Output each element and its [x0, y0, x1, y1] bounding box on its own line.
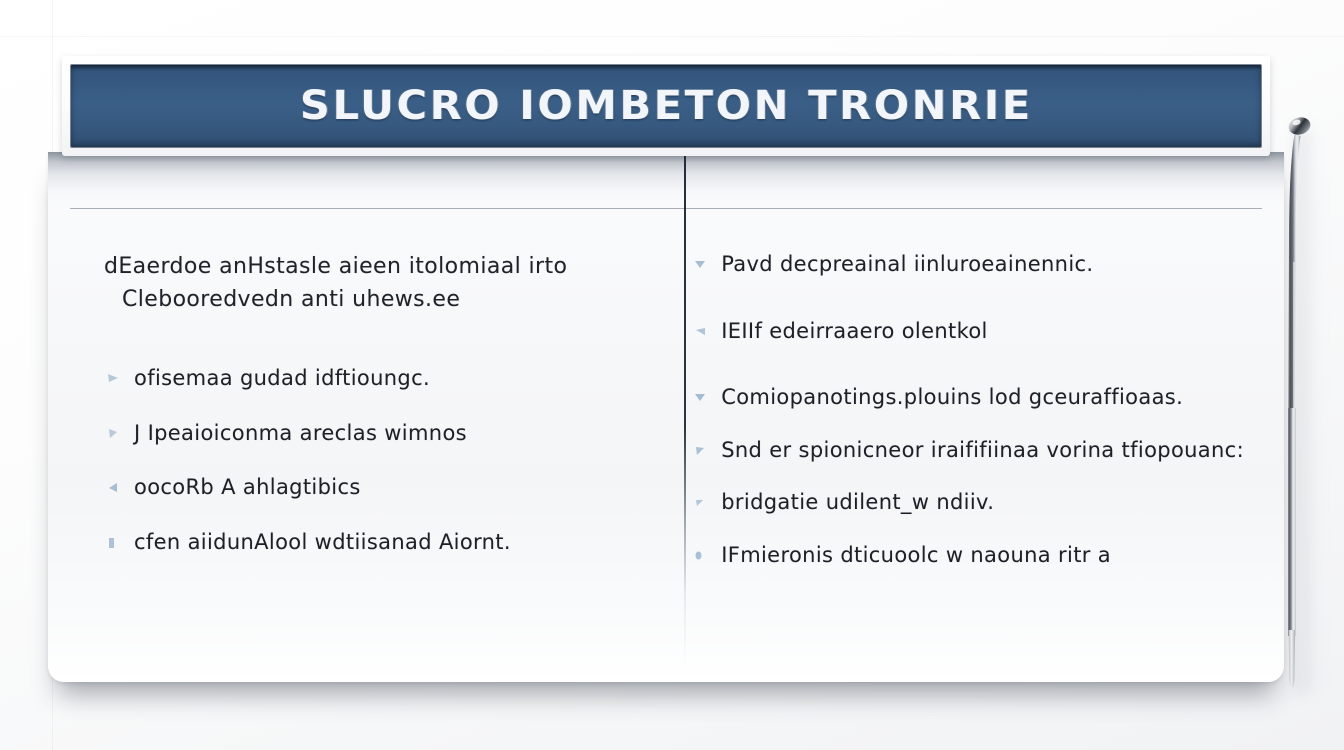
header-cast-shadow: [48, 152, 1284, 206]
left-column: dEaerdoe anHstasle aieen itolomiaal irto…: [48, 210, 633, 682]
square-icon: [106, 537, 122, 551]
metal-pointer-stylus[interactable]: [1282, 112, 1312, 700]
content-top-rule: [70, 208, 1262, 209]
list-item-label: ofisemaa gudad idftioungc.: [134, 364, 430, 393]
list-item[interactable]: bridgatie udilent_w ndiiv.: [691, 488, 1244, 517]
left-lead-line-2: Clebooredvedn anti uhews.ee: [104, 283, 599, 316]
triangle-left-icon: [693, 326, 709, 340]
wall-seam-horizontal: [0, 36, 1344, 37]
list-item[interactable]: J Ipeaioiconma areclas wimnos: [104, 419, 599, 448]
triangle-down-icon: [693, 259, 709, 273]
list-item[interactable]: Comiopanotings.plouins lod gceuraffioaas…: [691, 383, 1244, 412]
list-item-label: Pavd decpreainal iinluroeainennic.: [721, 250, 1093, 279]
right-column: Pavd decpreainal iinluroeainennic. IEIIf…: [633, 210, 1284, 682]
triangle-left-icon: [106, 482, 122, 496]
slide-stage: dEaerdoe anHstasle aieen itolomiaal irto…: [0, 0, 1344, 750]
triangle-right-icon: [693, 497, 709, 511]
page-title: SLUCRO IOMBETON TRONRIE: [300, 83, 1033, 129]
list-item[interactable]: IEIIf edeirraaero olentkol: [691, 317, 1244, 346]
list-item[interactable]: IFmieronis dticuoolc w naouna ritr a: [691, 541, 1244, 570]
circle-icon: [693, 550, 709, 564]
list-item[interactable]: oocoRb A ahlagtibics: [104, 473, 599, 502]
list-item[interactable]: cfen aiidunAlool wdtiisanad Aiornt.: [104, 528, 599, 557]
list-item-label: cfen aiidunAlool wdtiisanad Aiornt.: [134, 528, 511, 557]
title-banner-frame: SLUCRO IOMBETON TRONRIE: [62, 56, 1270, 156]
left-bullet-list: ofisemaa gudad idftioungc. J Ipeaioiconm…: [104, 364, 599, 556]
pointer-shadow: [1296, 128, 1322, 694]
slide-card: dEaerdoe anHstasle aieen itolomiaal irto…: [48, 152, 1284, 682]
list-item-label: Comiopanotings.plouins lod gceuraffioaas…: [721, 383, 1183, 412]
triangle-right-icon: [106, 373, 122, 387]
left-lead-paragraph: dEaerdoe anHstasle aieen itolomiaal irto…: [104, 250, 599, 316]
title-banner: SLUCRO IOMBETON TRONRIE: [71, 65, 1261, 147]
list-item-label: oocoRb A ahlagtibics: [134, 473, 361, 502]
list-item[interactable]: Snd er spionicneor iraififiinaa vorina t…: [691, 436, 1244, 465]
triangle-down-icon: [693, 392, 709, 406]
list-item-label: J Ipeaioiconma areclas wimnos: [134, 419, 467, 448]
list-item[interactable]: Pavd decpreainal iinluroeainennic.: [691, 250, 1244, 279]
triangle-right-icon: [106, 428, 122, 442]
list-item-label: bridgatie udilent_w ndiiv.: [721, 488, 994, 517]
list-item-label: IFmieronis dticuoolc w naouna ritr a: [721, 541, 1111, 570]
list-item-label: Snd er spionicneor iraififiinaa vorina t…: [721, 436, 1244, 465]
right-bullet-list: Pavd decpreainal iinluroeainennic. IEIIf…: [691, 250, 1244, 569]
list-item[interactable]: ofisemaa gudad idftioungc.: [104, 364, 599, 393]
list-item-label: IEIIf edeirraaero olentkol: [721, 317, 988, 346]
triangle-right-icon: [693, 445, 709, 459]
left-lead-line-1: dEaerdoe anHstasle aieen itolomiaal irto: [104, 254, 567, 279]
slide-columns: dEaerdoe anHstasle aieen itolomiaal irto…: [48, 210, 1284, 682]
